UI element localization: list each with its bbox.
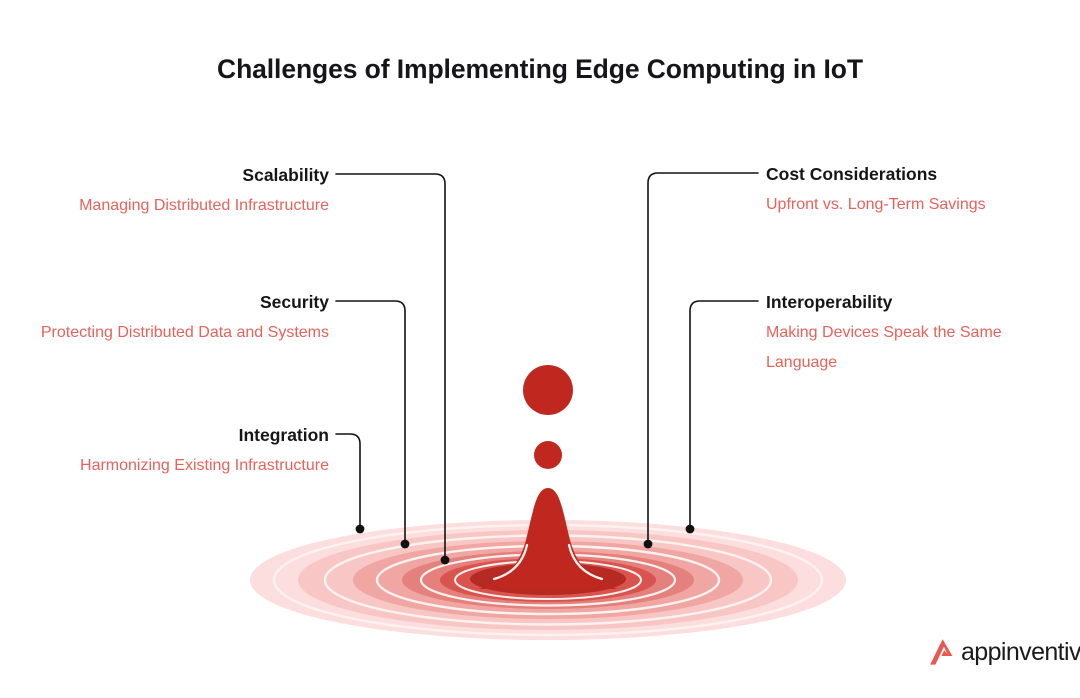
leader-line-scalability: [336, 174, 445, 556]
leader-dot-security: [401, 540, 410, 549]
leader-dot-integration: [356, 525, 365, 534]
leader-line-cost: [648, 173, 758, 540]
leader-line-integration: [336, 434, 360, 525]
leader-line-security: [336, 301, 405, 540]
leader-dot-cost: [644, 540, 653, 549]
leader-lines: [0, 0, 1080, 698]
leader-dot-scalability: [441, 556, 450, 565]
leader-line-interoperability: [690, 301, 758, 525]
infographic-canvas: Challenges of Implementing Edge Computin…: [0, 0, 1080, 698]
leader-dot-interoperability: [686, 525, 695, 534]
